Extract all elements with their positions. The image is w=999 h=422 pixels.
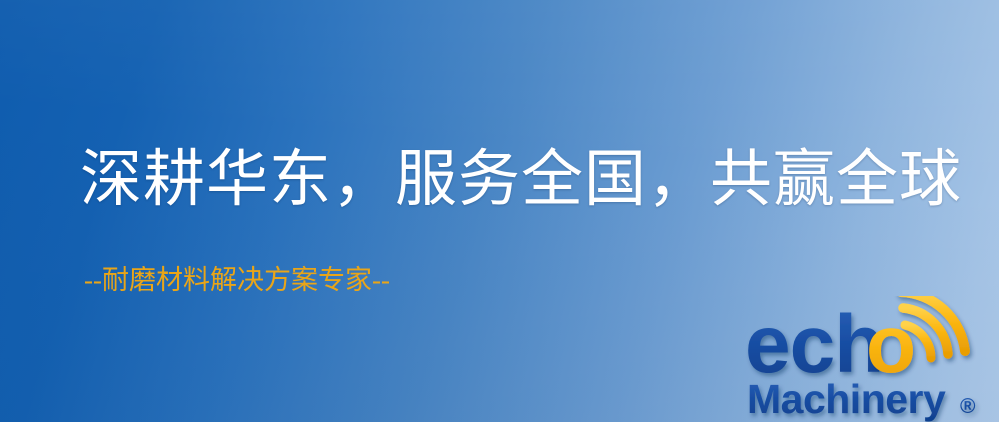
banner-headline: 深耕华东，服务全国，共赢全球	[80, 148, 962, 213]
logo-tagline: Machinery ®	[747, 376, 976, 422]
echo-machinery-logo: ech o Machinery ®	[745, 296, 999, 422]
svg-text:Machinery: Machinery	[747, 376, 946, 422]
svg-text:®: ®	[960, 395, 976, 418]
hero-banner: 深耕华东，服务全国，共赢全球 --耐磨材料解决方案专家--	[0, 0, 999, 422]
banner-subtitle: --耐磨材料解决方案专家--	[84, 266, 390, 296]
